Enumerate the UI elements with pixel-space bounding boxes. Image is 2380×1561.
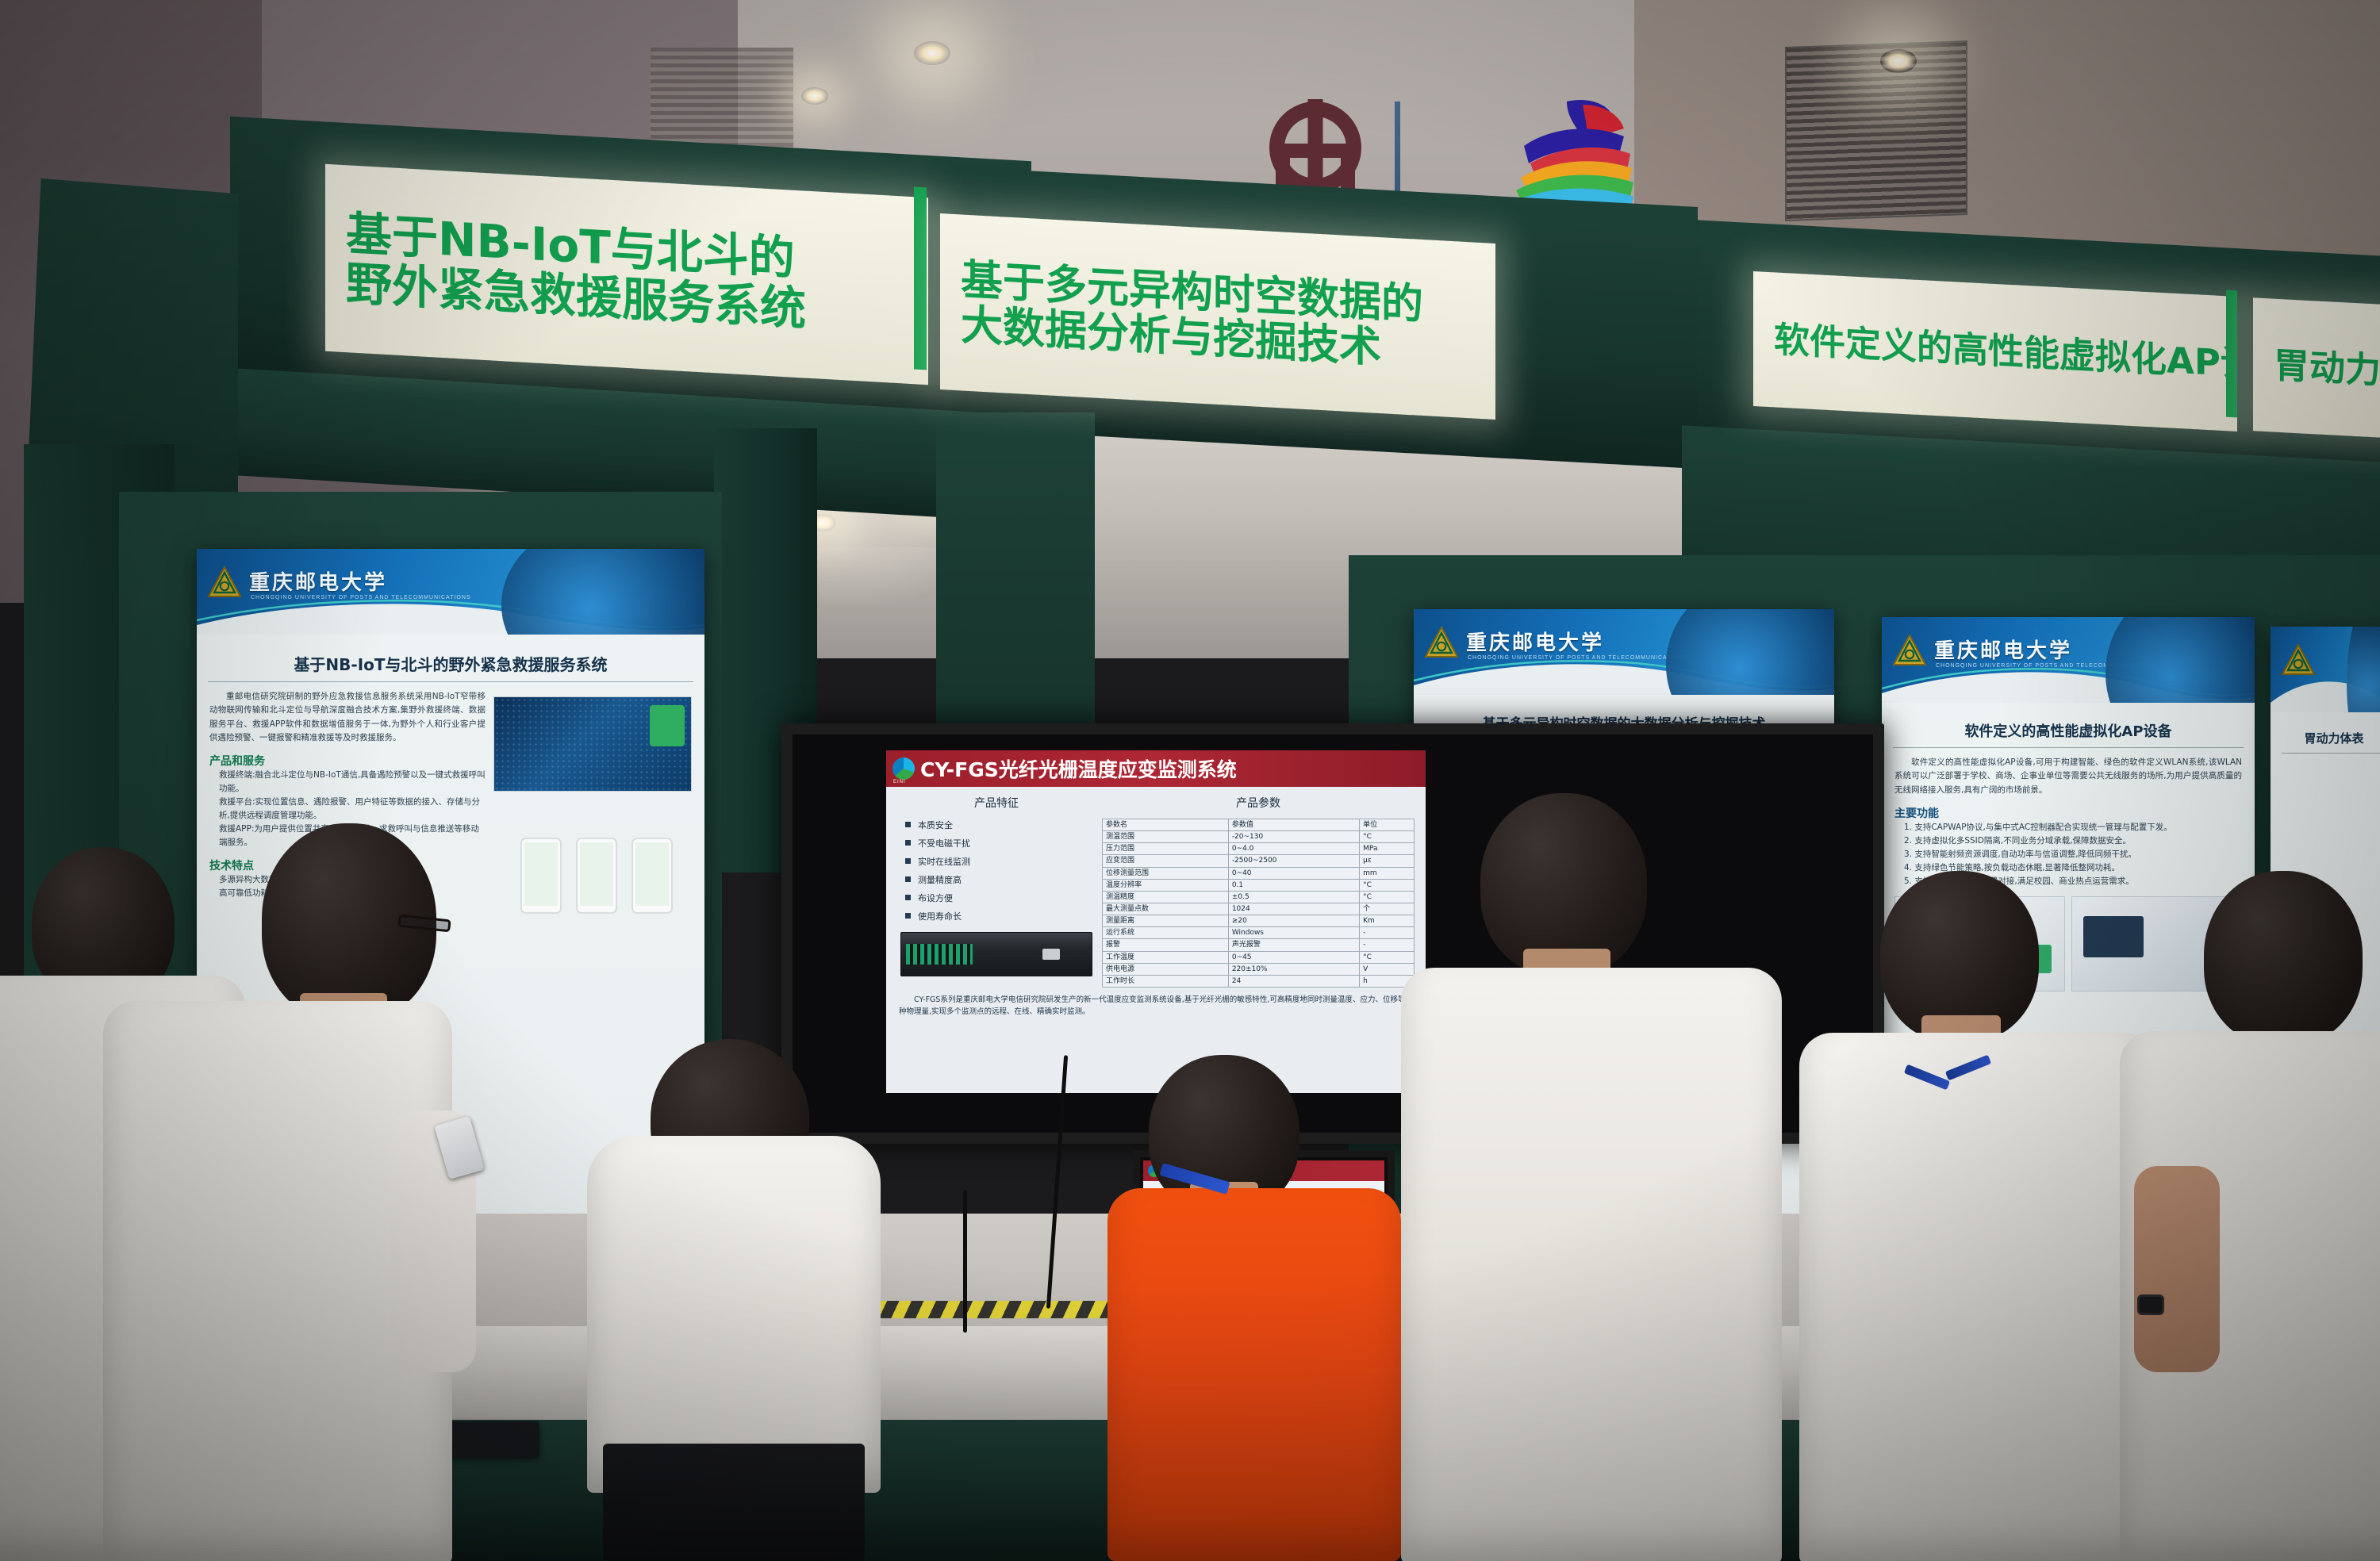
head [2204, 871, 2363, 1045]
table-row: 供电电源220±10%V [1103, 963, 1415, 975]
presentation-slide: EINI CY-FGS光纤光栅温度应变监测系统 产品特征 本质安全 不受电磁干扰… [886, 750, 1426, 1093]
table-row: 最大测量点数1024个 [1103, 903, 1415, 915]
cell-unit: °C [1360, 951, 1415, 963]
shirt [1799, 1033, 2156, 1561]
cell-name: 应变范围 [1103, 855, 1229, 867]
cable [963, 1190, 967, 1333]
polo-shirt [1107, 1188, 1401, 1561]
shirt [587, 1136, 881, 1493]
feature-item: 不受电磁干扰 [918, 837, 1096, 850]
cell-unit: mm [1360, 867, 1415, 879]
cell-value: ±0.5 [1228, 891, 1359, 903]
cell-value: Windows [1228, 927, 1359, 939]
poster-list-item: 1. 支持CAPWAP协议,与集中式AC控制器配合实现统一管理与配置下发。 [1904, 821, 2242, 834]
cell-unit: - [1360, 927, 1415, 939]
cell-unit: °C [1360, 879, 1415, 891]
poster-wave-decoration [1414, 654, 1834, 695]
poster-intro: 重邮电信研究院研制的野外应急救援信息服务系统采用NB-IoT窄带移动物联网传输和… [209, 690, 486, 745]
university-name: 重庆邮电大学 [249, 566, 387, 596]
table-row: 测温范围-20~130°C [1103, 831, 1415, 843]
column-header: 参数名 [1103, 819, 1229, 831]
cell-unit: °C [1360, 891, 1415, 903]
cell-name: 工作时长 [1103, 975, 1229, 987]
poster-wave-decoration [2271, 671, 2380, 712]
poster-list-item: 救援终端:融合北斗定位与NB-IoT通信,具备遇险预警以及一键式救援呼叫功能。 [219, 769, 486, 796]
cell-value: 0.1 [1228, 879, 1359, 891]
cell-name: 压力范围 [1103, 843, 1229, 855]
spec-table: 参数名 参数值 单位 测温范围-20~130°C 压力范围0~4.0MPa 应变… [1102, 819, 1415, 988]
table-row: 测温精度±0.5°C [1103, 891, 1415, 903]
poster-list-item: 2. 支持虚拟化多SSID隔离,不同业务分域承载,保障数据安全。 [1904, 834, 2242, 848]
table-row: 温度分辨率0.1°C [1103, 879, 1415, 891]
bank-of-china-logo [1269, 102, 1361, 194]
exhibition-booth-photo: NG 2022 1 33 Exhibition Hall 基于NB-IoT与北斗… [0, 0, 2380, 1561]
poster-header: 重庆邮电大学 CHONGQING UNIVERSITY OF POSTS AND… [197, 549, 704, 635]
poster-world-map-image [493, 696, 692, 792]
trousers [603, 1444, 865, 1561]
cell-unit: MPa [1360, 843, 1415, 855]
ceiling-light [801, 87, 828, 105]
cell-unit: °C [1360, 831, 1415, 843]
cell-value: 0~40 [1228, 867, 1359, 879]
features-heading: 产品特征 [897, 795, 1096, 811]
cell-name: 测量距离 [1103, 915, 1229, 927]
slide-header: EINI CY-FGS光纤光栅温度应变监测系统 [886, 750, 1426, 787]
table-row: 工作时长24h [1103, 975, 1415, 987]
feature-item: 实时在线监测 [918, 855, 1096, 868]
cell-unit: - [1360, 939, 1415, 951]
poster-section-heading: 产品和服务 [209, 753, 486, 769]
poster-wave-decoration [197, 593, 704, 635]
column-header: 单位 [1360, 819, 1415, 831]
slide-description: CY-FGS系列是重庆邮电大学电信研究院研发生产的新一代温度应变监测系统设备,基… [886, 988, 1426, 1018]
ceiling-vent-grille [1785, 40, 1967, 221]
cell-value: 220±10% [1228, 963, 1359, 975]
cell-name: 温度分辨率 [1103, 879, 1229, 891]
poster-intro: 软件定义的高性能虚拟化AP设备,可用于构建智能、绿色的软件定义WLAN系统,该W… [1894, 756, 2242, 797]
table-row: 应变范围-2500~2500με [1103, 855, 1415, 867]
cell-unit: με [1360, 855, 1415, 867]
table-row: 压力范围0~4.0MPa [1103, 843, 1415, 855]
parameters-column: 产品参数 参数名 参数值 单位 测温范围-20~130°C [1102, 795, 1415, 988]
overhead-banner-1: 基于NB-IoT与北斗的 野外紧急救援服务系统 [325, 164, 928, 385]
overhead-banner-4: 胃动力体表 [2253, 297, 2380, 438]
cell-name: 最大测量点数 [1103, 903, 1229, 915]
poster-list-item: 救援平台:实现位置信息、遇险报警、用户特征等数据的接入、存储与分析,提供远程调度… [219, 796, 486, 823]
cell-value: 0~4.0 [1228, 843, 1359, 855]
table-row: 运行系统Windows- [1103, 927, 1415, 939]
poster-header [2271, 627, 2380, 712]
cell-value: 1024 [1228, 903, 1359, 915]
features-column: 产品特征 本质安全 不受电磁干扰 实时在线监测 测量精度高 布设方便 使用寿命长 [897, 795, 1096, 988]
banner-separator [2226, 290, 2237, 418]
ceiling-vent-grille-secondary [651, 48, 793, 151]
overhead-banner-2: 基于多元异构时空数据的 大数据分析与挖掘技术 [940, 213, 1495, 420]
poster-title: 基于NB-IoT与北斗的野外紧急救援服务系统 [208, 652, 693, 682]
feature-item: 测量精度高 [918, 873, 1096, 886]
app-icon [650, 705, 685, 746]
poster-title: 软件定义的高性能虚拟化AP设备 [1893, 720, 2244, 748]
feature-item: 使用寿命长 [918, 910, 1096, 922]
table-row: 报警声光报警- [1103, 939, 1415, 951]
university-name: 重庆邮电大学 [1466, 627, 1604, 656]
ceiling-light [1880, 49, 1917, 73]
slide-body: 产品特征 本质安全 不受电磁干扰 实时在线监测 测量精度高 布设方便 使用寿命长… [886, 787, 1426, 988]
cell-value: -2500~2500 [1228, 855, 1359, 867]
cell-value: 0~45 [1228, 951, 1359, 963]
cell-name: 报警 [1103, 939, 1229, 951]
cell-name: 供电电源 [1103, 963, 1229, 975]
cell-value: ≥20 [1228, 915, 1359, 927]
ceiling-light [914, 41, 950, 65]
cell-unit: V [1360, 963, 1415, 975]
column-header: 参数值 [1228, 819, 1359, 831]
cell-name: 运行系统 [1103, 927, 1229, 939]
banner-4-line-1: 胃动力体表 [2274, 346, 2375, 389]
poster-list-item: 3. 支持智能射频资源调度,自动功率与信道调整,降低同频干扰。 [1904, 848, 2242, 861]
poster-title: 胃动力体表 [2282, 730, 2380, 754]
phone-mockup [576, 838, 617, 914]
slide-title: CY-FGS光纤光栅温度应变监测系统 [920, 754, 1237, 783]
table-row: 工作温度0~45°C [1103, 951, 1415, 963]
cell-value: 声光报警 [1228, 939, 1359, 951]
table-header-row: 参数名 参数值 单位 [1103, 819, 1415, 831]
poster-section-heading: 主要功能 [1894, 805, 2242, 821]
phone-mockup [520, 838, 562, 914]
table-row: 位移测量范围0~40mm [1103, 867, 1415, 879]
cell-unit: Km [1360, 915, 1415, 927]
university-name: 重庆邮电大学 [1934, 635, 2072, 664]
cell-value: -20~130 [1228, 831, 1359, 843]
cell-name: 测温范围 [1103, 831, 1229, 843]
arm [2134, 1166, 2220, 1372]
device-photo [900, 932, 1092, 976]
overhead-banner-3: 软件定义的高性能虚拟化AP设备 [1753, 271, 2237, 431]
company-logo-icon: EINI [892, 757, 915, 780]
cell-value: 24 [1228, 975, 1359, 987]
cell-name: 工作温度 [1103, 951, 1229, 963]
cell-name: 位移测量范围 [1103, 867, 1229, 879]
cell-unit: 个 [1360, 903, 1415, 915]
shirt [1401, 968, 1782, 1561]
poster-wave-decoration [1882, 662, 2255, 703]
poster-header: 重庆邮电大学 CHONGQING UNIVERSITY OF POSTS AND… [1414, 609, 1834, 695]
wristwatch [2137, 1294, 2164, 1315]
table-row: 测量距离≥20Km [1103, 915, 1415, 927]
banner-separator [914, 187, 927, 370]
phone-mockup [631, 838, 673, 914]
feature-item: 布设方便 [918, 892, 1096, 904]
cell-name: 测温精度 [1103, 891, 1229, 903]
poster-header: 重庆邮电大学 CHONGQING UNIVERSITY OF POSTS AND… [1882, 617, 2255, 703]
banner-3-line-1: 软件定义的高性能虚拟化AP设备 [1774, 320, 2217, 382]
parameters-heading: 产品参数 [1102, 795, 1415, 811]
feature-item: 本质安全 [918, 819, 1096, 831]
